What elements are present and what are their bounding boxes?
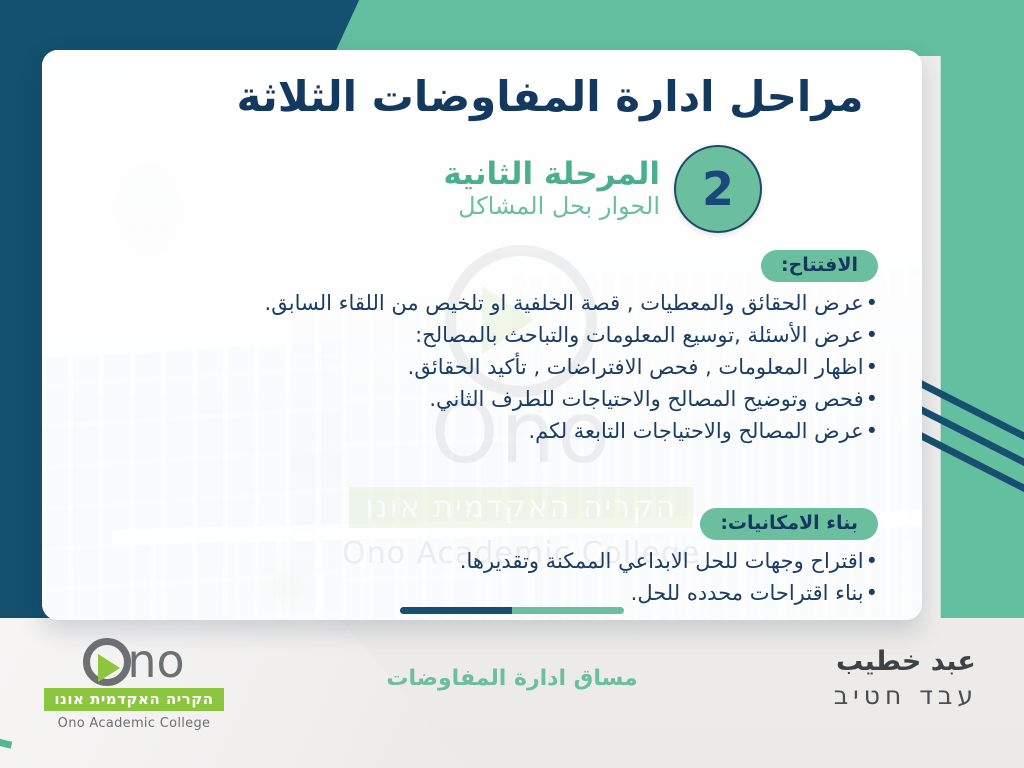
list-item: اقتراح وجهات للحل الابداعي الممكنة وتقدي…: [202, 546, 878, 578]
list-item: بناء اقتراحات محدده للحل.: [202, 578, 878, 610]
logo-english-text: Ono Academic College: [34, 716, 234, 731]
section-opening: الافتتاح: عرض الحقائق والمعطيات , قصة ال…: [162, 250, 878, 448]
author-credit: عبد خطيب עבד חטיב: [834, 646, 978, 710]
list-item: عرض الحقائق والمعطيات , قصة الخلفية او ت…: [162, 288, 878, 320]
stage-name: المرحلة الثانية: [443, 158, 660, 191]
stage-text-group: المرحلة الثانية الحوار بحل المشاكل: [443, 158, 660, 220]
stage-subtitle: الحوار بحل المشاكل: [443, 194, 660, 220]
list-item: عرض المصالح والاحتياجات التابعة لكم.: [162, 416, 878, 448]
section-capabilities: بناء الامكانيات: اقتراح وجهات للحل الابد…: [202, 508, 878, 610]
section-heading-badge: بناء الامكانيات:: [700, 508, 878, 540]
slide-root: Ono הקריה האקדמית אונו Ono Academic Coll…: [0, 0, 1024, 768]
section-heading-badge: الافتتاح:: [761, 250, 878, 282]
logo-hebrew-text: הקריה האקדמית אונו: [44, 688, 223, 711]
author-name-arabic: عبد خطيب: [834, 646, 978, 677]
page-title: مراحل ادارة المفاوضات الثلاثة: [222, 72, 878, 121]
section-bullet-list: عرض الحقائق والمعطيات , قصة الخلفية او ت…: [162, 288, 878, 448]
content-card: Ono הקריה האקדמית אונו Ono Academic Coll…: [42, 50, 922, 620]
card-content: مراحل ادارة المفاوضات الثلاثة 2 المرحلة …: [42, 50, 922, 620]
stage-number-badge: 2: [674, 145, 762, 233]
progress-bar: [400, 607, 624, 614]
list-item: فحص وتوضيح المصالح والاحتياجات للطرف الث…: [162, 384, 878, 416]
list-item: عرض الأسئلة ,توسيع المعلومات والتباحث با…: [162, 320, 878, 352]
section-bullet-list: اقتراح وجهات للحل الابداعي الممكنة وتقدي…: [202, 546, 878, 610]
progress-bar-fill: [400, 607, 512, 614]
stage-header: 2 المرحلة الثانية الحوار بحل المشاكل: [443, 145, 762, 233]
slide-footer: no הקריה האקדמית אונו Ono Academic Colle…: [0, 620, 1024, 768]
author-name-hebrew: עבד חטיב: [834, 681, 978, 710]
list-item: اظهار المعلومات , فحص الافتراضات , تأكيد…: [162, 352, 878, 384]
